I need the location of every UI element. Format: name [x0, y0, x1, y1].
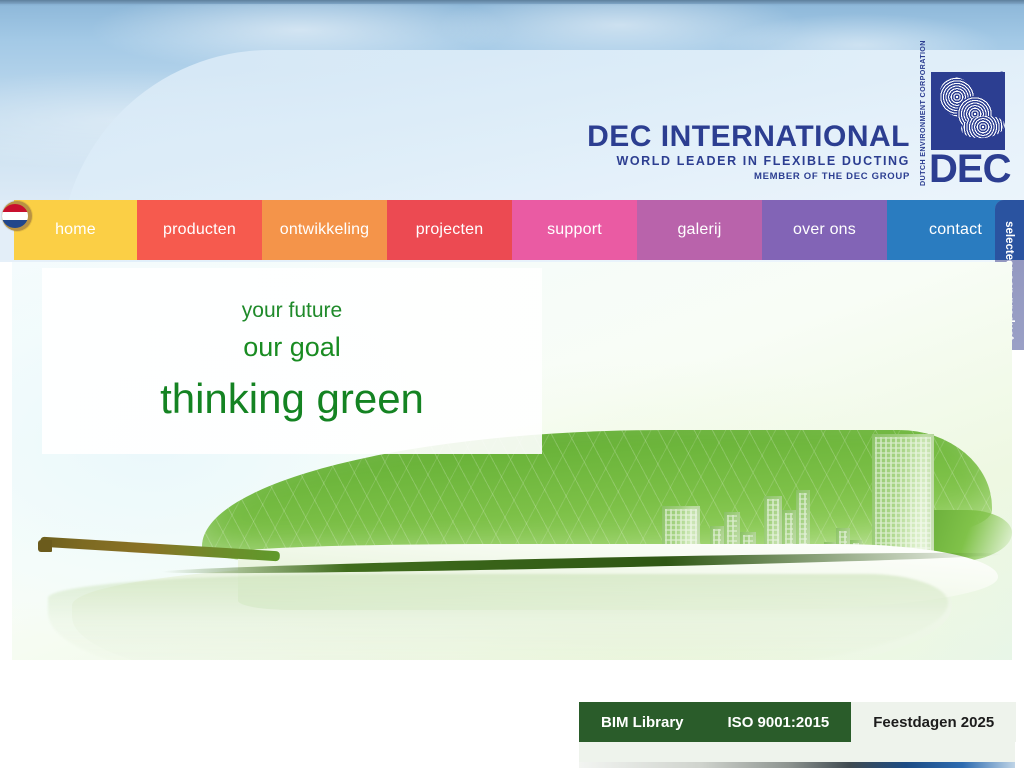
nav-item-ontwikkeling[interactable]: ontwikkeling [262, 200, 387, 260]
hero-text-panel: your future our goal thinking green [42, 268, 542, 454]
dutch-flag-icon[interactable] [2, 201, 32, 231]
logo-swirl-icon [931, 72, 1005, 150]
leaf-reflection [48, 574, 948, 660]
info-tab-feestdagen-2025[interactable]: Feestdagen 2025 [851, 702, 1016, 742]
info-tab-iso-9001-2015[interactable]: ISO 9001:2015 [706, 702, 852, 742]
page-root: DEC INTERNATIONAL WORLD LEADER IN FLEXIB… [0, 0, 1024, 768]
brand-logo[interactable]: DEC INTERNATIONAL WORLD LEADER IN FLEXIB… [587, 68, 1006, 186]
brand-subline: MEMBER OF THE DEC GROUP [587, 171, 910, 182]
nav-item-galerij[interactable]: galerij [637, 200, 762, 260]
top-border [0, 0, 1024, 4]
info-tabstrip: BIM LibraryISO 9001:2015Feestdagen 2025 [579, 702, 1016, 742]
logo-vertical-text: DUTCH ENVIRONMENT CORPORATION [917, 68, 928, 186]
nav-item-projecten[interactable]: projecten [387, 200, 512, 260]
info-panel [579, 742, 1015, 768]
brand-wordmark: DEC INTERNATIONAL WORLD LEADER IN FLEXIB… [587, 121, 910, 187]
nav-item-support[interactable]: support [512, 200, 637, 260]
info-tab-bim-library[interactable]: BIM Library [579, 702, 706, 742]
nav-item-home[interactable]: home [14, 200, 137, 260]
nav-item-over-ons[interactable]: over ons [762, 200, 887, 260]
hero-line-3: thinking green [160, 375, 424, 423]
logo-dec-text: DEC [929, 152, 1007, 186]
brand-tagline: WORLD LEADER IN FLEXIBLE DUCTING [587, 154, 910, 168]
leaf-stem-tip [38, 540, 52, 552]
hero-line-1: your future [242, 299, 342, 323]
hero-line-2: our goal [243, 332, 341, 363]
info-panel-image [579, 762, 1015, 768]
brand-name: DEC INTERNATIONAL [587, 121, 910, 153]
main-navigation: homeproductenontwikkelingprojectensuppor… [14, 200, 1024, 260]
nav-item-producten[interactable]: producten [137, 200, 262, 260]
dec-logo-icon: DUTCH ENVIRONMENT CORPORATION ® DEC [918, 68, 1006, 186]
